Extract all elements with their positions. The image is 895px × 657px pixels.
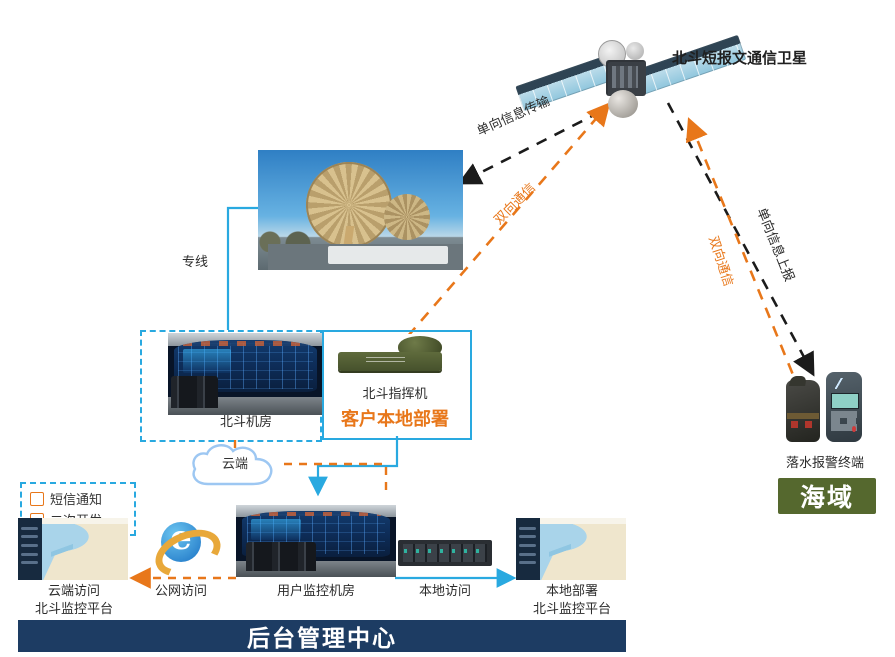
cloud-label: 云端 — [186, 453, 284, 472]
beidou-command-machine-photo — [330, 334, 460, 386]
cloud-platform-caption-2: 北斗监控平台 — [8, 601, 140, 619]
local-access-label: 本地访问 — [398, 583, 492, 601]
cloud-platform-caption-1: 云端访问 — [8, 583, 140, 601]
feature-sms: 短信通知 — [30, 489, 134, 508]
diagram-canvas: 北斗短报文通信卫星 单向信息传输 双向通信 单向信息上报 双向通信 专线 北斗机… — [0, 0, 895, 657]
public-access-label: 公网访问 — [140, 583, 222, 601]
ground-station-photo — [258, 150, 463, 270]
sea-area-banner: 海域 — [778, 478, 876, 514]
water-alarm-terminal-b-icon — [826, 372, 862, 442]
internet-explorer-icon — [152, 520, 210, 574]
beidou-room-photo — [168, 333, 323, 415]
backend-center-banner: 后台管理中心 — [18, 620, 626, 652]
rack-server-icon — [398, 540, 492, 566]
beidou-room-label: 北斗机房 — [220, 414, 272, 432]
dedicated-line-label: 专线 — [182, 254, 208, 272]
cloud-node: 云端 — [186, 440, 284, 488]
sms-icon — [30, 492, 44, 506]
feature-sms-label: 短信通知 — [50, 489, 102, 508]
satellite-dish-small-icon — [626, 42, 644, 60]
customer-local-deployment-label: 客户本地部署 — [322, 408, 468, 432]
link-terminal-report-oneway — [668, 103, 812, 372]
link-cloud-to-noc — [284, 464, 386, 492]
local-platform-caption-1: 本地部署 — [506, 583, 638, 601]
link-dedicated-line — [228, 208, 258, 330]
satellite-antenna-ball-icon — [608, 90, 638, 118]
sea-terminal-label: 落水报警终端 — [760, 455, 890, 473]
local-platform-caption-2: 北斗监控平台 — [506, 601, 638, 619]
user-noc-photo — [236, 505, 396, 577]
beidou-satellite — [520, 18, 740, 128]
cloud-platform-screenshot — [18, 518, 128, 580]
water-alarm-terminal-a-icon — [786, 380, 820, 442]
command-machine-label: 北斗指挥机 — [322, 386, 468, 404]
satellite-label: 北斗短报文通信卫星 — [672, 48, 807, 68]
user-noc-label: 用户监控机房 — [236, 583, 396, 601]
local-platform-screenshot — [516, 518, 626, 580]
